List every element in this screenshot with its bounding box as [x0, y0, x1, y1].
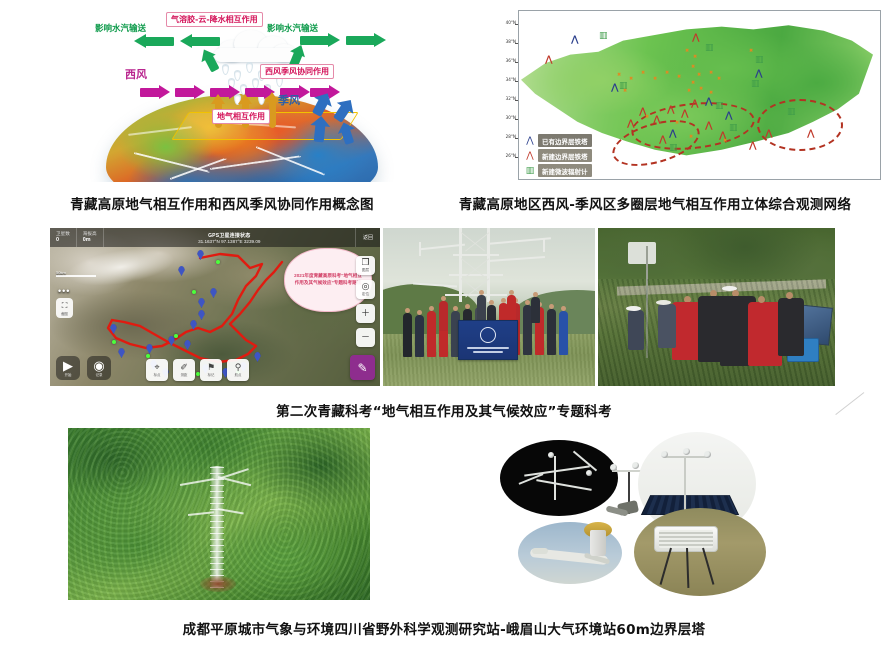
instrument-collage-image: [478, 426, 796, 602]
legend-row-existing-tower: ⋀ 已有边界层铁塔: [525, 134, 592, 147]
gps-point: [146, 354, 150, 358]
banner-line: [467, 347, 509, 349]
existing-tower-marker: ⋀: [755, 69, 763, 78]
more-options-icon[interactable]: •••: [58, 286, 70, 296]
label-monsoon: 季风: [278, 92, 300, 108]
record-icon: ◉: [93, 359, 104, 372]
new-tower-marker: ⋀: [691, 99, 699, 108]
pencil-icon: ✐: [180, 363, 188, 372]
boundary-layer-tower: [211, 466, 223, 588]
altitude-value: 0m: [83, 237, 97, 244]
pin-tool-label: 标点: [154, 372, 161, 377]
site-marker: ✖: [709, 91, 713, 96]
gps-point: [216, 260, 220, 264]
existing-tower-marker: ⋀: [725, 111, 733, 120]
flag-icon: ⚑: [207, 363, 215, 372]
measure-tool-button[interactable]: ✐ 测距: [173, 359, 195, 381]
satellite-count-value: 0: [56, 237, 70, 244]
gps-point: [174, 334, 178, 338]
expedition-banner: [458, 320, 518, 360]
anemometer-cup: [683, 448, 690, 455]
legend-row-radiometer: ▥ 新建微波辐射计: [525, 164, 592, 177]
existing-tower-marker: ⋀: [611, 83, 619, 92]
legend-label-existing-tower: 已有边界层铁塔: [538, 134, 592, 147]
locate-icon: ◎: [362, 282, 370, 291]
existing-tower-marker: ⋀: [669, 129, 677, 138]
new-tower-marker: ⋀: [692, 33, 700, 42]
screenshot-icon: ⛶: [62, 301, 68, 311]
caption-station: 成都平原城市气象与环境四川省野外科学观测研究站-峨眉山大气环境站60m边界层塔: [0, 618, 888, 638]
map-side-controls: ❐ 图层 ◎ 定位 ＋ －: [356, 256, 375, 347]
legend-row-new-tower: ⋀ 新建边界层铁塔: [525, 149, 592, 162]
zoom-out-button[interactable]: －: [356, 328, 375, 347]
tower-base-clearing: [200, 576, 236, 592]
new-tower-marker: ⋀: [765, 129, 773, 138]
caption-expedition: 第二次青藏科考“地气相互作用及其气候效应”专题科考: [0, 400, 888, 420]
screenshot-button[interactable]: ⛶ 截图: [56, 298, 73, 318]
radiometer-marker: ▥: [599, 31, 608, 40]
site-marker: ✖: [641, 71, 645, 76]
tripod-station-oval: [634, 508, 766, 596]
legend-label-new-tower: 新建边界层铁塔: [538, 149, 592, 162]
focus-circle-east: [757, 99, 843, 151]
radiometer-marker: ▥: [755, 55, 764, 64]
new-tower-marker: ⋀: [705, 121, 713, 130]
sensor-head: [628, 242, 656, 264]
site-marker: ✖: [723, 139, 727, 144]
edit-icon: ✎: [357, 361, 367, 375]
marker-icon: ⚲: [235, 363, 242, 372]
map-legend: ⋀ 已有边界层铁塔 ⋀ 新建边界层铁塔 ▥ 新建微波辐射计: [525, 132, 592, 177]
edit-route-button[interactable]: ✎: [350, 355, 375, 380]
gps-status-title: GPS卫星连接状态: [104, 232, 355, 239]
site-marker: ✖: [675, 121, 679, 126]
new-tower-marker: ⋀: [653, 115, 661, 124]
satellite-count-cell: 卫星数 0: [50, 228, 77, 247]
pin-icon: ⌖: [154, 363, 159, 372]
gps-point: [112, 340, 116, 344]
gps-point: [192, 290, 196, 294]
label-land-air-interaction: 地气相互作用: [212, 109, 270, 124]
radiometer-marker: ▥: [751, 79, 760, 88]
figure-panel: 气溶胶-云-降水相互作用 影响水汽输送 影响水汽输送 西风 西风季风协同作用 季…: [0, 0, 888, 666]
label-aerosol-cloud-precip: 气溶胶-云-降水相互作用: [166, 12, 263, 27]
layers-label: 图层: [362, 268, 369, 273]
radiometer-marker: ▥: [715, 101, 724, 110]
aerial-forest-tower-photo: [68, 428, 370, 600]
radiometer-marker: ▥: [729, 123, 738, 132]
banner-emblem-icon: [480, 327, 496, 343]
waypoint-tool-label: 航点: [235, 372, 242, 377]
layers-button[interactable]: ❐ 图层: [356, 256, 375, 275]
waypoint-tool-button[interactable]: ⚲ 航点: [227, 359, 249, 381]
site-marker: ✖: [693, 55, 697, 60]
caption-concept: 青藏高原地气相互作用和西风季风协同作用概念图: [0, 193, 444, 213]
plus-icon: ＋: [361, 309, 370, 318]
station-crossarm: [664, 456, 708, 458]
legend-label-radiometer: 新建微波辐射计: [538, 164, 592, 177]
new-tower-marker: ⋀: [749, 141, 757, 150]
westerly-arrow-1: [140, 85, 170, 100]
tower-icon: ⋀: [525, 135, 535, 147]
scalebar-line: [56, 275, 96, 277]
play-button[interactable]: ▶ 开始: [56, 356, 80, 380]
radiometer-marker: ▥: [669, 143, 678, 152]
caption-network: 青藏高原地区西风-季风区多圈层地气相互作用立体综合观测网络: [422, 193, 888, 213]
back-button[interactable]: 返回: [355, 228, 380, 247]
label-westerly-monsoon-synergy: 西风季风协同作用: [260, 64, 334, 79]
record-button[interactable]: ◉ 记录: [87, 356, 111, 380]
site-marker: ✖: [709, 71, 713, 76]
existing-tower-marker: ⋀: [705, 97, 713, 106]
moisture-arrow-right-2: [346, 33, 386, 48]
flag-tool-button[interactable]: ⚑ 标记: [200, 359, 222, 381]
moisture-arrow-left-2: [180, 34, 220, 49]
new-tower-marker: ⋀: [545, 55, 553, 64]
radiometer-icon: ▥: [525, 165, 535, 177]
screenshot-label: 截图: [61, 311, 68, 316]
zoom-in-button[interactable]: ＋: [356, 304, 375, 323]
new-tower-marker: ⋀: [627, 119, 635, 128]
locate-button[interactable]: ◎ 定位: [356, 280, 375, 299]
new-tower-marker: ⋀: [807, 129, 815, 138]
station-mast: [684, 456, 686, 514]
new-tower-marker: ⋀: [667, 105, 675, 114]
existing-tower-marker: ⋀: [571, 35, 579, 44]
site-marker: ✖: [717, 77, 721, 82]
observation-network-map-image: 40°N 38°N 36°N 34°N 32°N 30°N 28°N 26°N …: [497, 4, 885, 182]
play-icon: ▶: [63, 359, 73, 372]
gps-route-app-screenshot: 卫星数 0 海拔高 0m GPS卫星连接状态 31.1637°N 97.1387…: [50, 228, 380, 386]
flag-tool-label: 标记: [208, 372, 215, 377]
moisture-arrow-right-1: [300, 33, 340, 48]
minus-icon: －: [361, 333, 370, 342]
label-moisture-transport-right: 影响水汽输送: [267, 22, 318, 34]
site-marker: ✖: [645, 115, 649, 120]
banner-line: [473, 351, 503, 353]
map-frame: ⋀ ⋀ ⋀ ⋀ ⋀ ⋀ ⋀ ⋀ ⋀ ⋀ ⋀ ⋀ ⋀ ⋀ ⋀ ⋀ ⋀ ⋀ ⋀ ⋀ …: [518, 10, 881, 180]
anemometer-cup: [661, 451, 668, 458]
concept-diagram-image: 气溶胶-云-降水相互作用 影响水汽输送 影响水汽输送 西风 西风季风协同作用 季…: [62, 4, 420, 182]
site-marker: ✖: [623, 89, 627, 94]
site-marker: ✖: [749, 49, 753, 54]
gps-status-block: GPS卫星连接状态 31.1637°N 97.1387°E 3239.09: [104, 232, 355, 244]
westerly-arrow-2: [175, 85, 205, 100]
site-marker: ✖: [653, 77, 657, 82]
app-topbar: 卫星数 0 海拔高 0m GPS卫星连接状态 31.1637°N 97.1387…: [50, 228, 380, 247]
label-westerly: 西风: [125, 66, 147, 82]
play-label: 开始: [65, 372, 72, 377]
label-moisture-transport-left: 影响水汽输送: [95, 22, 146, 34]
sonic-anemometer-oval: [500, 440, 618, 516]
site-marker: ✖: [665, 71, 669, 76]
rain-gauge-body: [590, 530, 606, 556]
site-marker: ✖: [689, 135, 693, 140]
fieldwork-photo: [598, 228, 835, 386]
radiometer-marker: ▥: [787, 107, 796, 116]
site-marker: ✖: [699, 87, 703, 92]
layers-icon: ❐: [361, 258, 369, 267]
map-tool-buttons: ⌖ 标点 ✐ 测距 ⚑ 标记 ⚲ 航点: [146, 359, 249, 381]
new-tower-marker: ⋀: [681, 109, 689, 118]
anemometer-cup: [704, 451, 711, 458]
site-marker: ✖: [677, 75, 681, 80]
site-marker: ✖: [617, 73, 621, 78]
map-scalebar: 50km: [56, 270, 96, 277]
playback-controls: ▶ 开始 ◉ 记录: [56, 356, 111, 380]
site-marker: ✖: [691, 81, 695, 86]
tower-icon: ⋀: [525, 150, 535, 162]
expedition-group-photo: [383, 228, 595, 386]
new-tower-marker: ⋀: [659, 135, 667, 144]
moisture-arrow-left-1: [134, 34, 174, 49]
record-label: 记录: [96, 372, 103, 377]
site-marker: ✖: [685, 49, 689, 54]
monsoon-arrow-3: [309, 115, 332, 143]
site-marker: ✖: [691, 65, 695, 70]
pin-tool-button[interactable]: ⌖ 标点: [146, 359, 168, 381]
altitude-cell: 海拔高 0m: [77, 228, 104, 247]
gps-coordinates: 31.1637°N 97.1387°E 3239.09: [104, 239, 355, 244]
measure-tool-label: 测距: [181, 372, 188, 377]
locate-label: 定位: [362, 292, 369, 297]
site-marker: ✖: [687, 89, 691, 94]
site-marker: ✖: [629, 77, 633, 82]
radiometer-marker: ▥: [705, 43, 714, 52]
site-marker: ✖: [697, 73, 701, 78]
